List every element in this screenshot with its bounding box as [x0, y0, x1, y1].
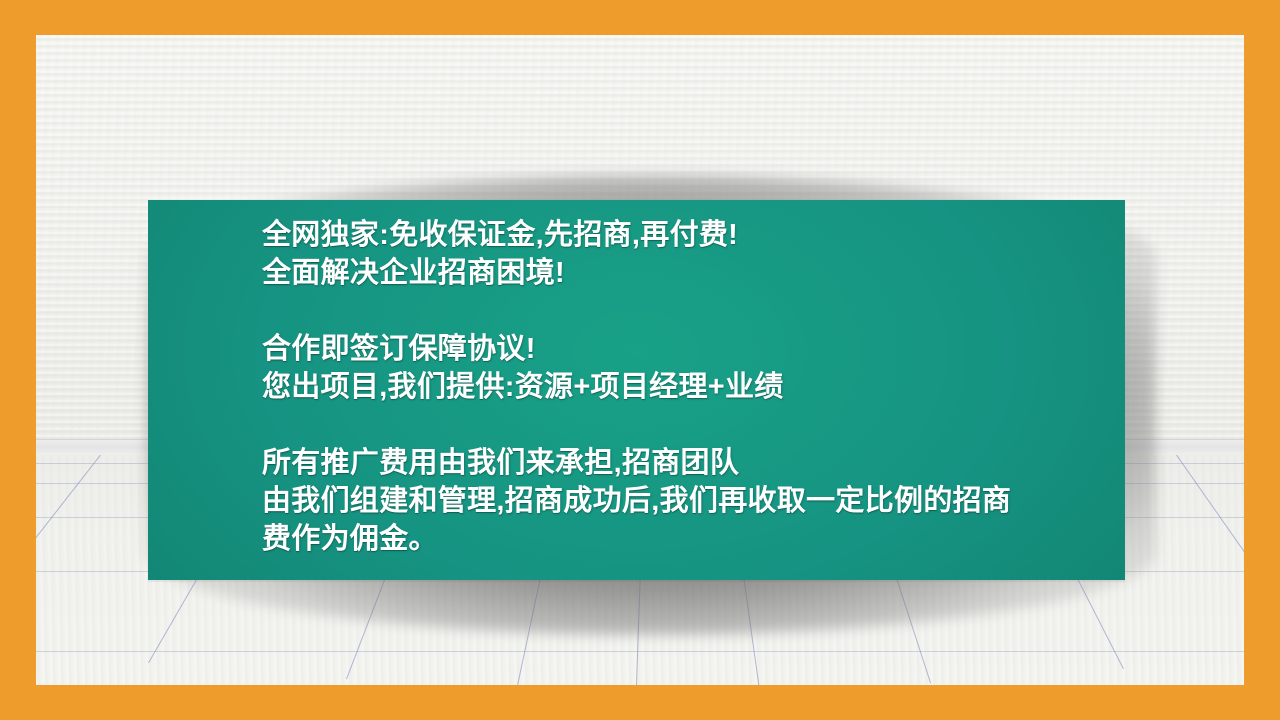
floor-grid-line: [1176, 455, 1244, 652]
message-spacer-2: [262, 406, 1107, 444]
message-line-6: 由我们组建和管理,招商成功后,我们再收取一定比例的招商: [262, 482, 1107, 520]
message-line-1: 全网独家:免收保证金,先招商,再付费!: [262, 216, 1107, 254]
message-spacer-1: [262, 292, 1107, 330]
slide-canvas: 全网独家:免收保证金,先招商,再付费! 全面解决企业招商困境! 合作即签订保障协…: [0, 0, 1280, 720]
message-line-7: 费作为佣金。: [262, 520, 1107, 558]
message-line-2: 全面解决企业招商困境!: [262, 254, 1107, 292]
message-line-3: 合作即签订保障协议!: [262, 330, 1107, 368]
message-panel-text-block: 全网独家:免收保证金,先招商,再付费! 全面解决企业招商困境! 合作即签订保障协…: [262, 216, 1107, 558]
message-line-4: 您出项目,我们提供:资源+项目经理+业绩: [262, 368, 1107, 406]
message-line-5: 所有推广费用由我们来承担,招商团队: [262, 444, 1107, 482]
message-panel: 全网独家:免收保证金,先招商,再付费! 全面解决企业招商困境! 合作即签订保障协…: [148, 200, 1125, 580]
floor-grid-line: [36, 455, 101, 644]
